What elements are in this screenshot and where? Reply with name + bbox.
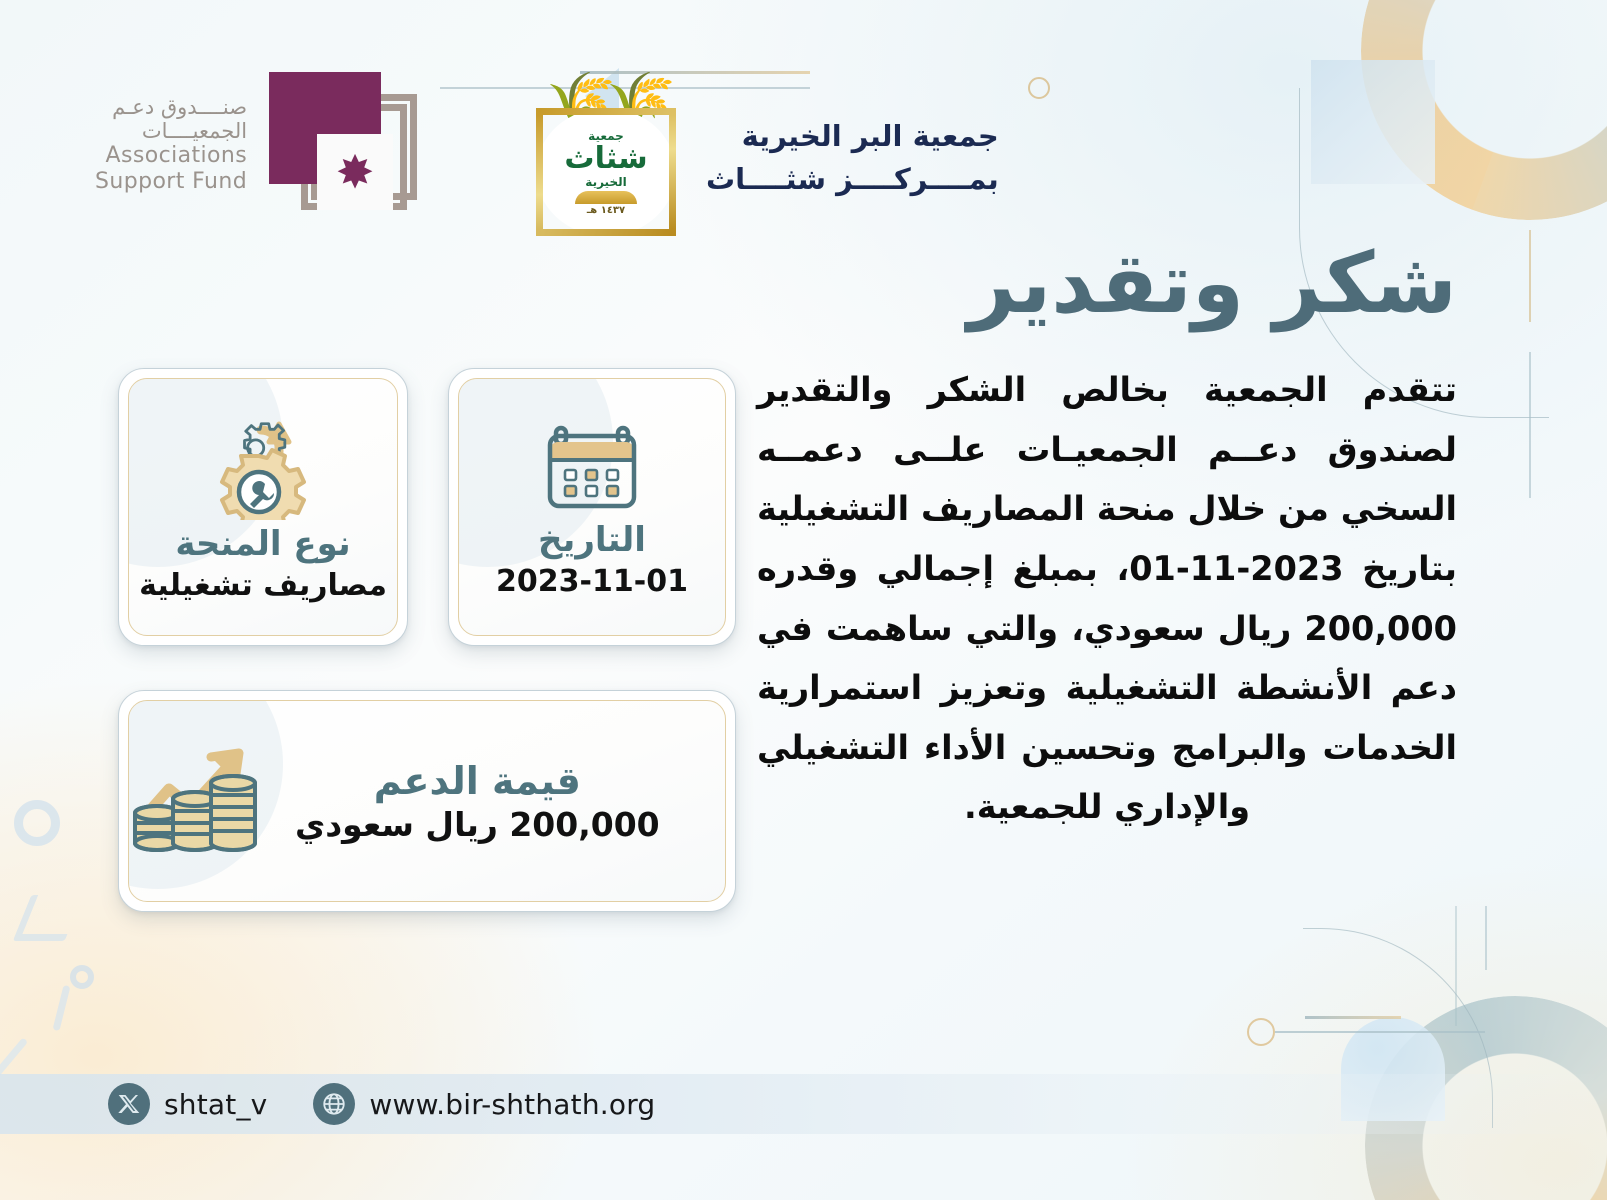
bottom-right-vertical-line-decoration	[1485, 906, 1487, 970]
date-card-value: 2023-11-01	[496, 564, 688, 599]
asf-logo-mark-icon: ✸	[269, 72, 419, 217]
thanks-paragraph: تتقدم الجمعية بخالص الشكر والتقدير لصندو…	[757, 360, 1457, 837]
website-item[interactable]: www.bir-shthath.org	[313, 1083, 655, 1125]
top-ring-decoration	[1028, 77, 1050, 99]
bottom-gradient-line-decoration	[1305, 1016, 1401, 1019]
bottom-left-small-ring-decoration	[70, 965, 94, 989]
associations-support-fund-logo: صنــــدوق دعـم الجمعيــــات Associations…	[95, 72, 419, 217]
bottom-right-vertical-line-2-decoration	[1455, 906, 1457, 1026]
date-card-inner: التاريخ 2023-11-01	[458, 378, 726, 636]
support-amount-card-value: 200,000 ريال سعودي	[295, 805, 660, 844]
poster-canvas: صنــــدوق دعـم الجمعيــــات Associations…	[0, 0, 1607, 1200]
badge-sub-text: الخيرية	[585, 175, 626, 189]
association-name-line-2: بمــــركــــز شثــــاث	[706, 158, 999, 202]
association-name-text: جمعية البر الخيرية بمــــركــــز شثــــا…	[706, 115, 999, 202]
coins-growth-icon	[129, 739, 261, 863]
social-handle-item[interactable]: shtat_v	[108, 1083, 267, 1125]
grant-type-card-value: مصاريف تشغيلية	[139, 568, 387, 603]
globe-icon[interactable]	[313, 1083, 355, 1125]
asf-logo-text: صنــــدوق دعـم الجمعيــــات Associations…	[95, 95, 247, 195]
top-right-square-decoration	[1311, 60, 1435, 184]
date-card-title: التاريخ	[538, 520, 646, 560]
date-card[interactable]: التاريخ 2023-11-01	[448, 368, 736, 646]
asf-palm-tile: ✸	[317, 134, 393, 210]
grant-type-card[interactable]: نوع المنحة مصاريف تشغيلية	[118, 368, 408, 646]
asf-english-line-2: Support Fund	[95, 169, 247, 195]
support-amount-card-inner: قيمة الدعم 200,000 ريال سعودي	[128, 700, 726, 902]
bottom-ring-decoration	[1247, 1018, 1275, 1046]
asf-arabic-line-2: الجمعيــــات	[95, 119, 247, 143]
main-text-column: شكر وتقدير تتقدم الجمعية بخالص الشكر وال…	[757, 236, 1457, 837]
association-badge-icon: 🌾🌾 جمعية شثاث الخيرية ١٤٣٧ هـ	[520, 78, 692, 238]
top-right-gold-tick-decoration	[1529, 230, 1531, 322]
grant-type-card-inner: نوع المنحة مصاريف تشغيلية	[128, 378, 398, 636]
gear-arrow-icon	[207, 412, 319, 520]
x-twitter-icon[interactable]	[108, 1083, 150, 1125]
asf-arabic-line-1: صنــــدوق دعـم	[95, 95, 247, 119]
support-amount-card[interactable]: قيمة الدعم 200,000 ريال سعودي	[118, 690, 736, 912]
asf-english-line-1: Associations	[95, 143, 247, 169]
support-amount-text-group: قيمة الدعم 200,000 ريال سعودي	[295, 759, 660, 844]
bottom-left-ring-decoration	[14, 800, 60, 846]
footer: shtat_v www.bir-shthath.org	[108, 1083, 655, 1125]
support-amount-card-title: قيمة الدعم	[374, 759, 581, 803]
badge-main-text: شثاث	[564, 144, 647, 174]
grant-type-card-body: نوع المنحة مصاريف تشغيلية	[129, 379, 397, 635]
association-name-line-1: جمعية البر الخيرية	[706, 115, 999, 159]
badge-hill-shape	[575, 191, 637, 204]
association-logo: جمعية البر الخيرية بمــــركــــز شثــــا…	[520, 78, 999, 238]
page-title: شكر وتقدير	[757, 236, 1457, 330]
social-handle-label: shtat_v	[164, 1088, 267, 1121]
bottom-left-zigzag-2-decoration	[53, 985, 71, 1031]
grant-type-card-title: نوع المنحة	[175, 524, 350, 564]
badge-year-text: ١٤٣٧ هـ	[587, 205, 625, 216]
support-amount-card-body: قيمة الدعم 200,000 ريال سعودي	[129, 701, 725, 901]
calendar-icon	[542, 416, 642, 516]
website-url-label: www.bir-shthath.org	[369, 1088, 655, 1121]
top-right-gradient-arc-decoration	[1361, 0, 1607, 220]
palm-tree-icon: ✸	[336, 149, 375, 195]
date-card-body: التاريخ 2023-11-01	[459, 379, 725, 635]
bottom-horizontal-line-decoration	[1275, 1031, 1485, 1033]
badge-inner-content: جمعية شثاث الخيرية ١٤٣٧ هـ	[536, 108, 676, 236]
top-right-vertical-line-decoration	[1529, 352, 1531, 498]
bottom-left-zigzag-decoration	[13, 895, 84, 941]
